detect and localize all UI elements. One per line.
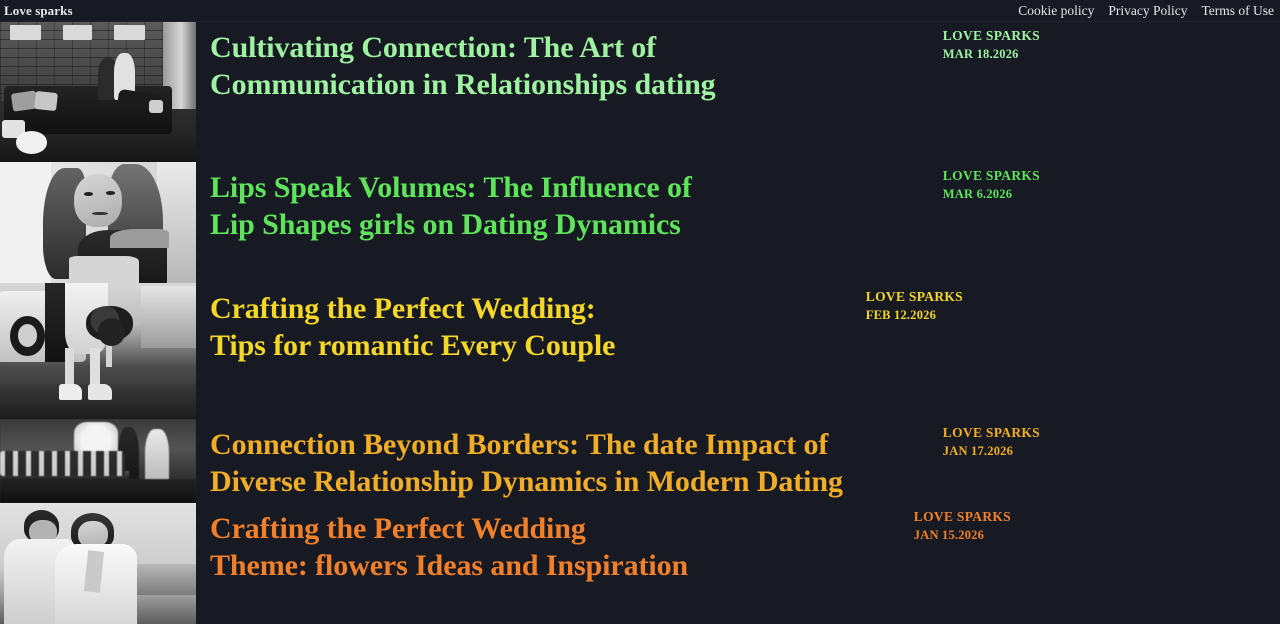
article-thumbnail[interactable]	[0, 22, 196, 162]
article-row[interactable]: Cultivating Connection: The Art of Commu…	[0, 22, 1280, 162]
article-body: Crafting the Perfect Wedding Theme: flow…	[196, 503, 1280, 584]
article-body: Crafting the Perfect Wedding: Tips for r…	[196, 283, 1280, 364]
article-date: JAN 15.2026	[914, 527, 1011, 543]
article-date: MAR 6.2026	[943, 186, 1040, 202]
article-title[interactable]: Connection Beyond Borders: The date Impa…	[210, 419, 843, 500]
article-date: MAR 18.2026	[943, 46, 1040, 62]
article-source[interactable]: LOVE SPARKS	[866, 288, 963, 305]
site-brand[interactable]: Love sparks	[4, 4, 73, 17]
article-body: Cultivating Connection: The Art of Commu…	[196, 22, 1280, 103]
article-meta: LOVE SPARKS JAN 17.2026	[943, 419, 1040, 459]
article-row[interactable]: Crafting the Perfect Wedding: Tips for r…	[0, 283, 1280, 419]
article-date: JAN 17.2026	[943, 443, 1040, 459]
article-meta: LOVE SPARKS JAN 15.2026	[914, 503, 1011, 543]
article-thumbnail[interactable]	[0, 419, 196, 503]
article-list: Cultivating Connection: The Art of Commu…	[0, 22, 1280, 624]
article-title[interactable]: Crafting the Perfect Wedding: Tips for r…	[210, 283, 615, 364]
photo-couple-on-sofa	[0, 22, 196, 162]
article-thumbnail[interactable]	[0, 162, 196, 283]
article-title[interactable]: Crafting the Perfect Wedding Theme: flow…	[210, 503, 688, 584]
article-meta: LOVE SPARKS MAR 18.2026	[943, 22, 1040, 62]
article-source[interactable]: LOVE SPARKS	[943, 167, 1040, 184]
article-thumbnail[interactable]	[0, 503, 196, 624]
article-title[interactable]: Lips Speak Volumes: The Influence of Lip…	[210, 162, 692, 243]
site-header: Love sparks Cookie policy Privacy Policy…	[0, 0, 1280, 22]
article-source[interactable]: LOVE SPARKS	[943, 424, 1040, 441]
article-source[interactable]: LOVE SPARKS	[914, 508, 1011, 525]
nav-link-terms-of-use[interactable]: Terms of Use	[1201, 4, 1274, 18]
nav-link-cookie-policy[interactable]: Cookie policy	[1018, 4, 1094, 18]
article-row[interactable]: Crafting the Perfect Wedding Theme: flow…	[0, 503, 1280, 624]
article-row[interactable]: Connection Beyond Borders: The date Impa…	[0, 419, 1280, 503]
photo-love-locks	[0, 419, 196, 503]
article-row[interactable]: Lips Speak Volumes: The Influence of Lip…	[0, 162, 1280, 283]
article-body: Connection Beyond Borders: The date Impa…	[196, 419, 1280, 500]
header-nav: Cookie policy Privacy Policy Terms of Us…	[1018, 4, 1274, 18]
article-thumbnail[interactable]	[0, 283, 196, 419]
article-date: FEB 12.2026	[866, 307, 963, 323]
article-source[interactable]: LOVE SPARKS	[943, 27, 1040, 44]
article-body: Lips Speak Volumes: The Influence of Lip…	[196, 162, 1280, 243]
photo-couple-at-beach	[0, 503, 196, 624]
photo-woman-portrait	[0, 162, 196, 283]
article-meta: LOVE SPARKS MAR 6.2026	[943, 162, 1040, 202]
nav-link-privacy-policy[interactable]: Privacy Policy	[1108, 4, 1187, 18]
article-title[interactable]: Cultivating Connection: The Art of Commu…	[210, 22, 716, 103]
article-meta: LOVE SPARKS FEB 12.2026	[866, 283, 963, 323]
photo-bride-with-bouquet	[0, 283, 196, 419]
